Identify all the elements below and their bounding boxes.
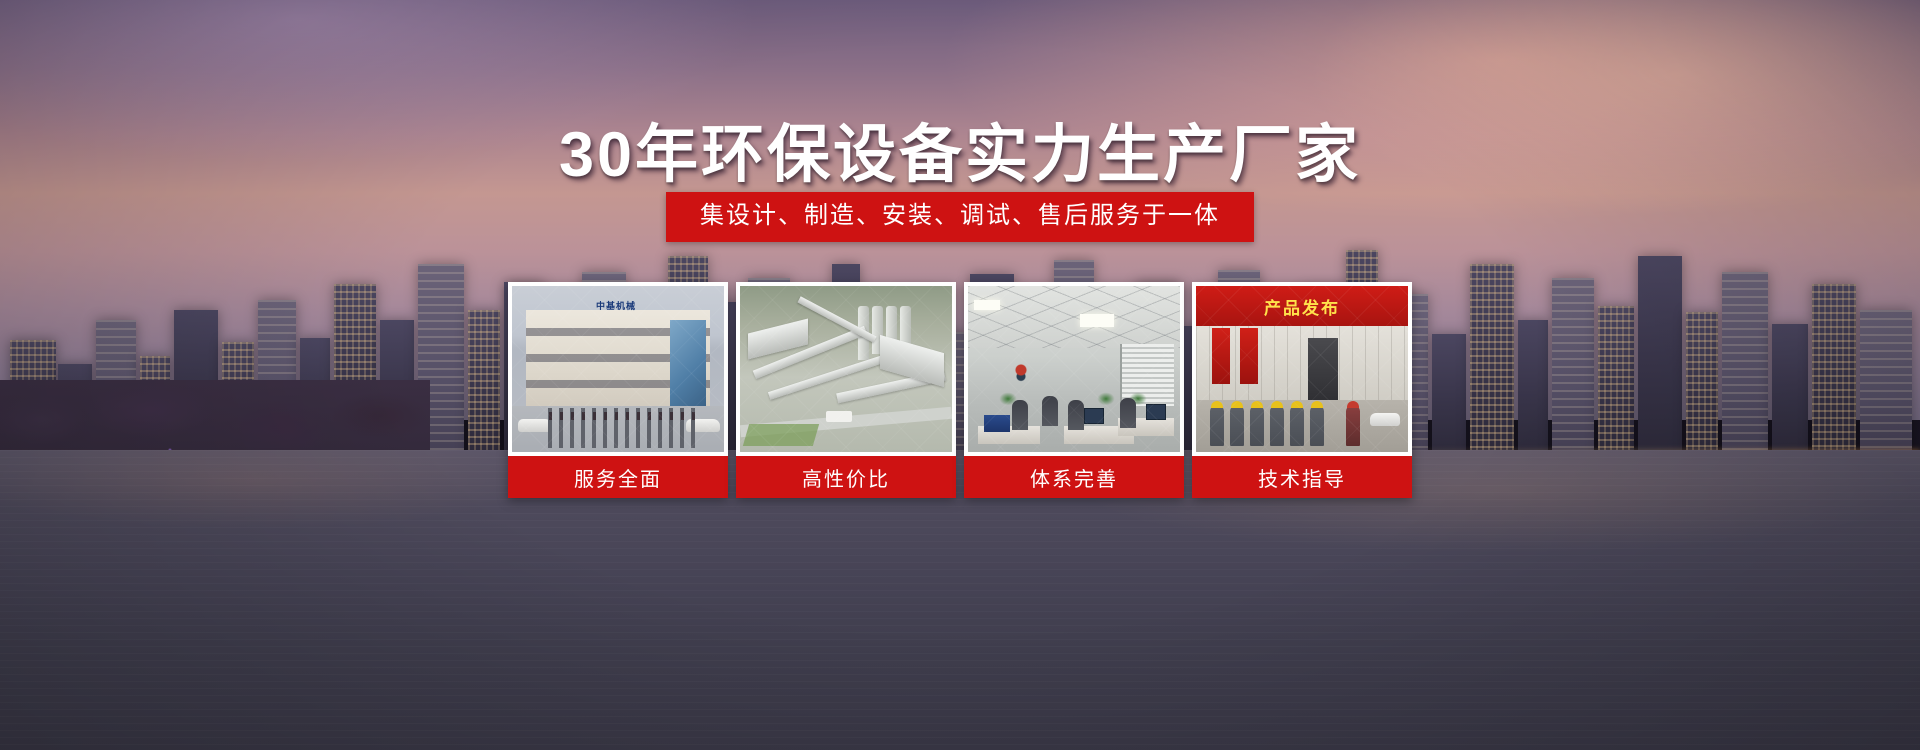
feature-card-label: 服务全面 <box>508 456 728 498</box>
feature-card[interactable]: 高性价比 <box>736 282 956 498</box>
feature-card[interactable]: 产品发布 <box>1192 282 1412 498</box>
feature-card-photo: 中基机械 <box>512 286 724 452</box>
feature-card-label: 技术指导 <box>1192 456 1412 498</box>
workshop-banner-text: 产品发布 <box>1196 286 1408 326</box>
feature-card-list: 中基机械 服务全面 <box>0 282 1920 498</box>
feature-card[interactable]: 体系完善 <box>964 282 1184 498</box>
feature-card-label: 高性价比 <box>736 456 956 498</box>
feature-card-label: 体系完善 <box>964 456 1184 498</box>
subtitle-banner-wrap: 集设计、制造、安装、调试、售后服务于一体 <box>0 192 1920 242</box>
building-sign-text: 中基机械 <box>572 298 660 312</box>
hero-subtitle-banner: 集设计、制造、安装、调试、售后服务于一体 <box>666 192 1254 242</box>
hero-banner: 30年环保设备实力生产厂家 集设计、制造、安装、调试、售后服务于一体 中基机械 <box>0 0 1920 750</box>
feature-card[interactable]: 中基机械 服务全面 <box>508 282 728 498</box>
feature-card-photo <box>968 286 1180 452</box>
hero-headline: 30年环保设备实力生产厂家 <box>0 104 1920 195</box>
feature-card-photo <box>740 286 952 452</box>
feature-card-photo: 产品发布 <box>1196 286 1408 452</box>
